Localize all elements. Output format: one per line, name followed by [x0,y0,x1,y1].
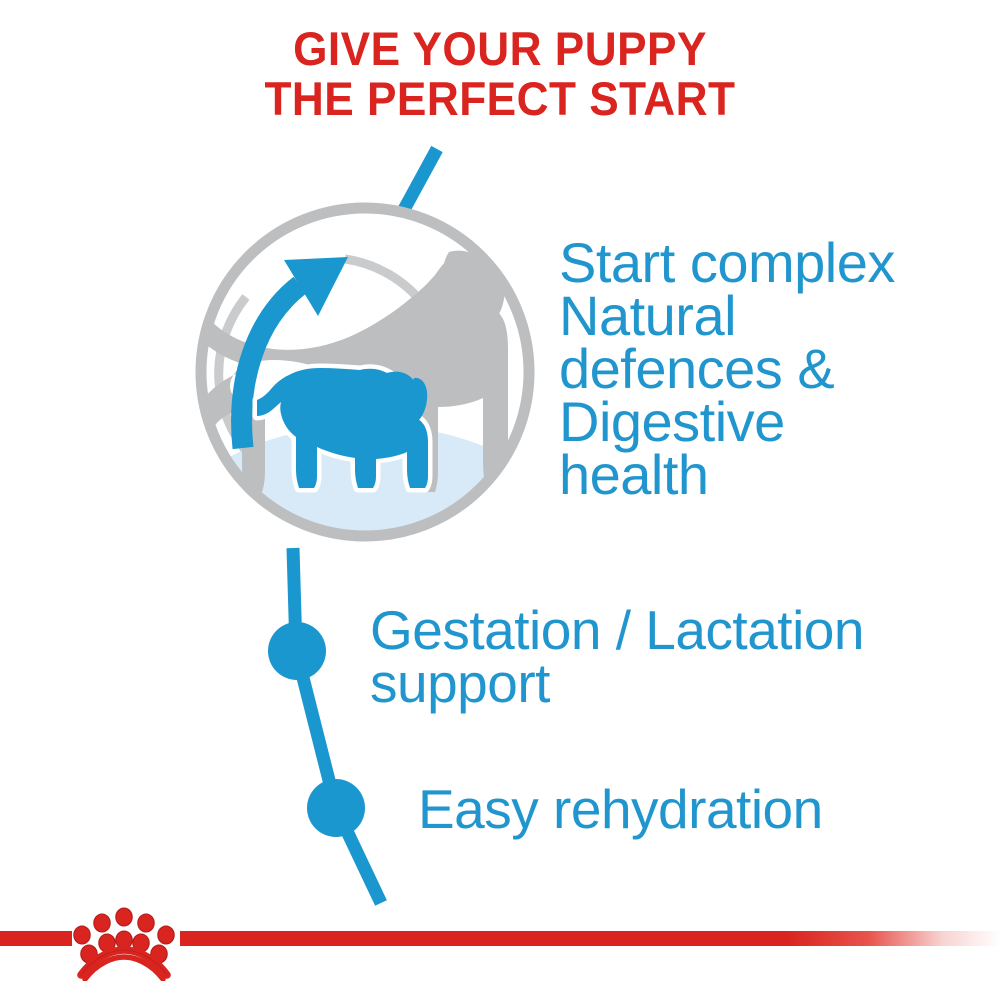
page-title-line-1: GIVE YOUR PUPPY [30,24,970,74]
benefit-1-line-4: Digestive [559,395,895,448]
benefit-1-line-1: Start complex [559,236,895,289]
page-title-line-2: THE PERFECT START [30,74,970,124]
inner-progress-arc-top [345,259,424,305]
connector-path [293,548,381,903]
benefit-text-gestation-lactation: Gestation / Lactation support [370,604,864,710]
badge-ring [201,208,529,536]
connector-top-stub [401,149,437,215]
puppy-silhouette [257,368,428,488]
benefit-text-start-complex: Start complex Natural defences & Digesti… [559,236,895,501]
benefit-text-easy-rehydration: Easy rehydration [418,783,823,836]
benefit-1-line-2: Natural [559,289,895,342]
connector-node-1 [268,622,326,680]
product-benefits-poster: GIVE YOUR PUPPY THE PERFECT START [0,0,1000,1000]
royal-canin-crown-logo [68,899,180,981]
benefit-2-line-2: support [370,657,864,710]
footer-rule-left [0,931,72,946]
connector-node-2 [307,779,365,837]
footer-rule-right [180,931,1000,946]
adult-dog-silhouette [185,251,508,492]
growth-arrow-icon [242,257,348,448]
benefit-1-line-3: defences & [559,342,895,395]
inner-progress-arc [219,297,247,452]
benefit-2-line-1: Gestation / Lactation [370,604,864,657]
page-title: GIVE YOUR PUPPY THE PERFECT START [30,24,970,124]
benefit-3-line-1: Easy rehydration [418,783,823,836]
benefit-1-line-5: health [559,448,895,501]
